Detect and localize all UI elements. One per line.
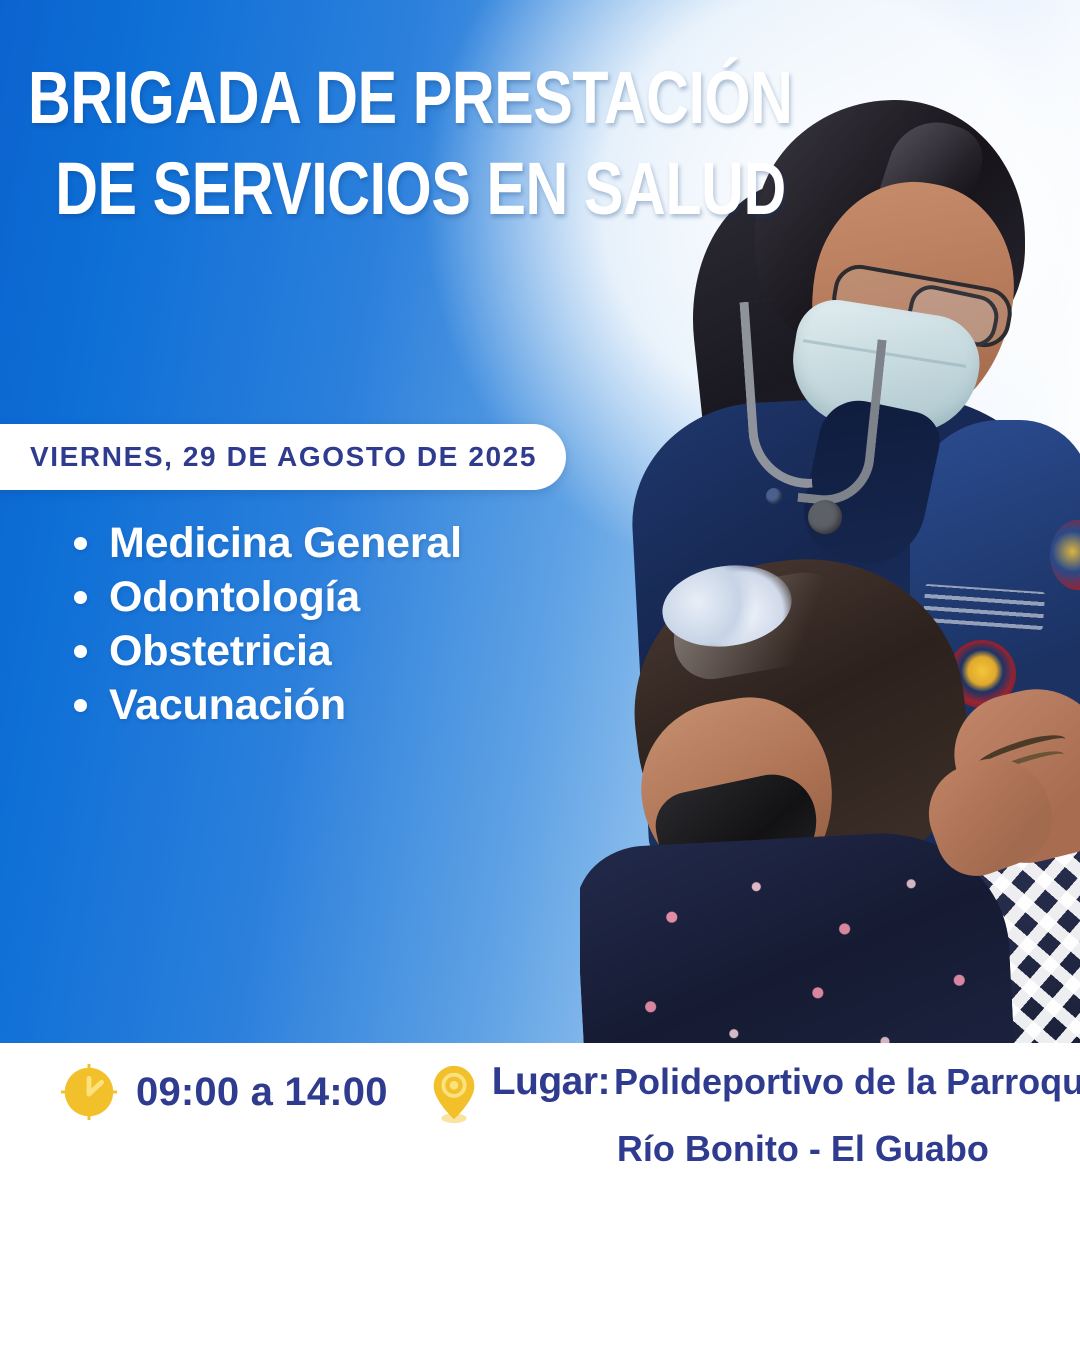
title-line-1: BRIGADA DE PRESTACIÓN [28,62,540,133]
scrub-button [766,488,782,504]
place-group: Lugar:Polideportivo de la Parroquia Río … [430,1061,1080,1170]
service-label: Medicina General [109,522,462,565]
bullet-icon [74,537,87,550]
page-title: BRIGADA DE PRESTACIÓN DE SERVICIOS EN SA… [28,62,668,224]
date-banner-text: VIERNES, 29 DE AGOSTO DE 2025 [30,441,537,473]
event-details-row: 09:00 a 14:00 Lugar:Polideportivo de la … [0,1061,1080,1170]
list-item: Medicina General [74,522,462,565]
services-list: Medicina General Odontología Obstetricia… [74,522,462,738]
schedule-time: 09:00 a 14:00 [136,1070,388,1115]
list-item: Odontología [74,576,462,619]
service-label: Odontología [109,576,360,619]
place-label: Lugar: [492,1060,610,1103]
bullet-icon [74,591,87,604]
bullet-icon [74,645,87,658]
list-item: Obstetricia [74,630,462,673]
schedule-group: 09:00 a 14:00 [58,1061,388,1123]
bullet-icon [74,699,87,712]
place-line-2: Río Bonito - El Guabo [492,1128,1080,1170]
list-item: Vacunación [74,684,462,727]
poster-canvas: BRIGADA DE PRESTACIÓN DE SERVICIOS EN SA… [0,0,1080,1350]
title-line-2: DE SERVICIOS EN SALUD [28,153,540,224]
service-label: Obstetricia [109,630,331,673]
location-pin-icon [430,1063,478,1125]
date-banner: VIERNES, 29 DE AGOSTO DE 2025 [0,424,566,490]
clock-icon [58,1061,120,1123]
place-text-block: Lugar:Polideportivo de la Parroquia Río … [492,1061,1080,1170]
place-venue: Polideportivo de la Parroquia [614,1061,1080,1102]
hero-panel: BRIGADA DE PRESTACIÓN DE SERVICIOS EN SA… [0,0,1080,1043]
service-label: Vacunación [109,684,346,727]
stethoscope-chestpiece [808,500,842,534]
place-line-1: Lugar:Polideportivo de la Parroquia [492,1061,1080,1104]
footer-panel: 09:00 a 14:00 Lugar:Polideportivo de la … [0,1043,1080,1350]
